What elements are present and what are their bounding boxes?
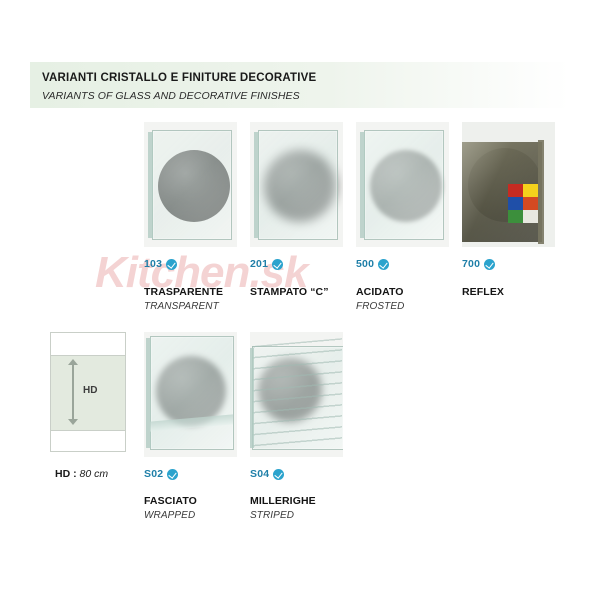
- glass-pane: [152, 130, 232, 240]
- hd-inner-label: HD: [83, 385, 97, 396]
- name-it-103: TRASPARENTE: [144, 286, 223, 298]
- color-chip: [523, 184, 538, 197]
- code-label-103: 103: [144, 258, 162, 270]
- color-chip: [523, 197, 538, 210]
- check-icon: [272, 259, 283, 270]
- code-label-201: 201: [250, 258, 268, 270]
- glass-edge: [360, 132, 365, 238]
- name-it-s04: MILLERIGHE: [250, 495, 316, 507]
- sample-swatch-wrapped: [144, 332, 237, 457]
- hd-caption-label: HD :: [55, 468, 77, 480]
- code-row-500: 500: [356, 258, 389, 270]
- stripe-pattern: [252, 338, 342, 448]
- sample-swatch-printed-c: [250, 122, 343, 247]
- code-label-s02: S02: [144, 468, 163, 480]
- code-label-500: 500: [356, 258, 374, 270]
- glass-edge: [254, 132, 259, 238]
- code-row-s04: S04: [250, 468, 284, 480]
- name-it-500: ACIDATO: [356, 286, 404, 298]
- color-chip: [508, 210, 523, 223]
- glass-edge: [148, 132, 153, 238]
- glass-pane: [258, 130, 338, 240]
- name-it-700: REFLEX: [462, 286, 504, 298]
- sample-card-201: [250, 122, 343, 247]
- check-icon: [167, 469, 178, 480]
- sample-card-700: [462, 122, 555, 247]
- color-chip: [523, 210, 538, 223]
- glass-edge: [538, 140, 544, 244]
- sample-card-s04: [250, 332, 343, 457]
- name-en-s02: WRAPPED: [144, 510, 195, 521]
- sample-card-s02: [144, 332, 237, 457]
- hd-caption-value: 80 cm: [80, 468, 109, 480]
- code-label-s04: S04: [250, 468, 269, 480]
- page-title: VARIANTI CRISTALLO E FINITURE DECORATIVE: [42, 72, 316, 84]
- sample-card-500: [356, 122, 449, 247]
- color-chips: [508, 184, 538, 224]
- sample-swatch-frosted: [356, 122, 449, 247]
- name-it-201: STAMPATO “C”: [250, 286, 329, 298]
- glass-pane: [364, 130, 444, 240]
- page-subtitle: VARIANTS OF GLASS AND DECORATIVE FINISHE…: [42, 90, 300, 102]
- color-chip: [508, 184, 523, 197]
- check-icon: [484, 259, 495, 270]
- code-row-700: 700: [462, 258, 495, 270]
- code-label-700: 700: [462, 258, 480, 270]
- arrow-down-icon: [68, 419, 78, 425]
- glass-edge: [250, 348, 254, 448]
- check-icon: [378, 259, 389, 270]
- name-en-103: TRANSPARENT: [144, 301, 219, 312]
- arrow-shaft: [72, 363, 74, 421]
- name-en-s04: STRIPED: [250, 510, 294, 521]
- color-chip: [508, 197, 523, 210]
- check-icon: [273, 469, 284, 480]
- code-row-201: 201: [250, 258, 283, 270]
- code-row-103: 103: [144, 258, 177, 270]
- sample-card-103: [144, 122, 237, 247]
- name-en-500: FROSTED: [356, 301, 404, 312]
- hd-dimension-arrow: [67, 359, 79, 425]
- sample-swatch-striped: [250, 332, 343, 457]
- check-icon: [166, 259, 177, 270]
- hd-diagram: HD: [50, 332, 126, 452]
- hd-caption: HD : 80 cm: [55, 468, 108, 480]
- sample-swatch-reflex: [462, 122, 555, 247]
- code-row-s02: S02: [144, 468, 178, 480]
- glass-pane: [150, 336, 234, 450]
- name-it-s02: FASCIATO: [144, 495, 197, 507]
- sample-swatch-transparent: [144, 122, 237, 247]
